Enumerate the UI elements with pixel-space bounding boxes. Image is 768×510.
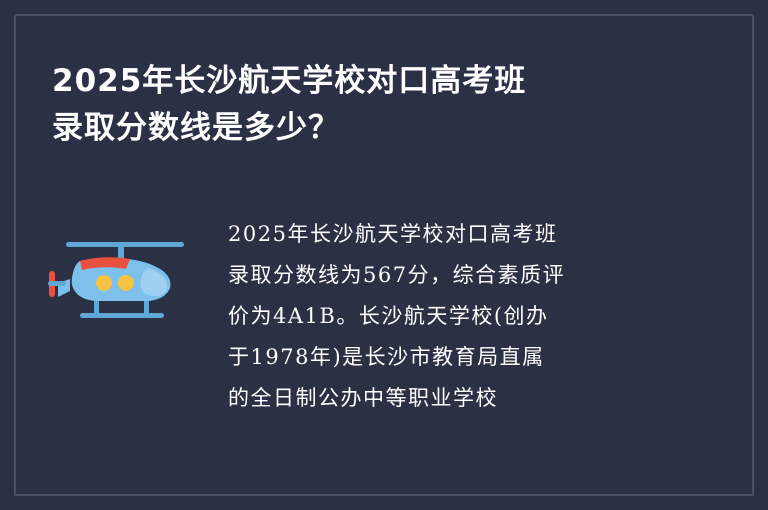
page-title: 2025年长沙航天学校对口高考班 录取分数线是多少？ — [52, 58, 712, 152]
helicopter-illustration — [44, 225, 204, 335]
info-card: 2025年长沙航天学校对口高考班 录取分数线是多少？ 2025年长 — [0, 0, 768, 510]
article-body: 2025年长沙航天学校对口高考班 录取分数线为567分，综合素质评 价为4A1B… — [228, 214, 668, 419]
